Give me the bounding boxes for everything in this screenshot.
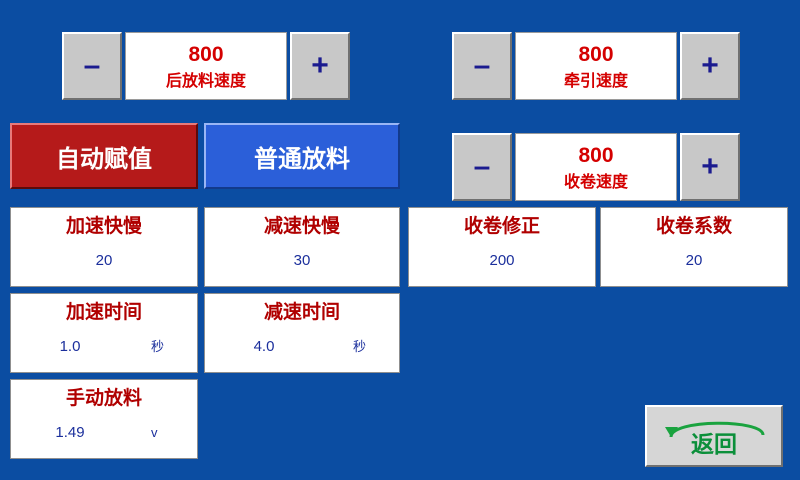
back-arrow-icon xyxy=(661,411,773,445)
hmi-screen: – 800 后放料速度 + – 800 牵引速度 + – 800 收卷速度 + … xyxy=(0,0,800,480)
cell-decel-time[interactable]: 减速时间 4.0 秒 xyxy=(204,293,400,373)
cell-winding-correct[interactable]: 收卷修正 200 xyxy=(408,207,596,287)
back-feed-speed-value: 800 xyxy=(188,44,223,65)
winding-speed-display[interactable]: 800 收卷速度 xyxy=(515,133,677,201)
cell-decel-rate[interactable]: 减速快慢 30 xyxy=(204,207,400,287)
decel-time-unit: 秒 xyxy=(353,340,366,353)
decel-time-title: 减速时间 xyxy=(205,303,399,322)
accel-rate-value: 20 xyxy=(11,253,197,268)
accel-time-value: 1.0 xyxy=(25,339,115,354)
decel-time-value: 4.0 xyxy=(219,339,309,354)
back-feed-speed-label: 后放料速度 xyxy=(166,74,246,90)
accel-time-unit: 秒 xyxy=(151,340,164,353)
accel-time-title: 加速时间 xyxy=(11,303,197,322)
winding-correct-title: 收卷修正 xyxy=(409,217,595,236)
spinner-traction-speed: – 800 牵引速度 + xyxy=(452,32,740,100)
manual-feed-value: 1.49 xyxy=(25,425,115,440)
manual-feed-title: 手动放料 xyxy=(11,389,197,408)
cell-manual-feed[interactable]: 手动放料 1.49 v xyxy=(10,379,198,459)
back-feed-speed-display[interactable]: 800 后放料速度 xyxy=(125,32,287,100)
spinner-back-feed-speed: – 800 后放料速度 + xyxy=(62,32,350,100)
winding-correct-value: 200 xyxy=(409,253,595,268)
winding-speed-label: 收卷速度 xyxy=(564,175,628,191)
auto-assign-button[interactable]: 自动赋值 xyxy=(10,123,198,189)
winding-speed-minus-button[interactable]: – xyxy=(452,133,512,201)
traction-speed-minus-button[interactable]: – xyxy=(452,32,512,100)
back-feed-speed-minus-button[interactable]: – xyxy=(62,32,122,100)
winding-speed-value: 800 xyxy=(578,145,613,166)
decel-rate-title: 减速快慢 xyxy=(205,217,399,236)
return-button[interactable]: 返回 xyxy=(645,405,783,467)
spinner-winding-speed: – 800 收卷速度 + xyxy=(452,133,740,201)
traction-speed-display[interactable]: 800 牵引速度 xyxy=(515,32,677,100)
back-feed-speed-plus-button[interactable]: + xyxy=(290,32,350,100)
cell-accel-rate[interactable]: 加速快慢 20 xyxy=(10,207,198,287)
winding-factor-value: 20 xyxy=(601,253,787,268)
manual-feed-unit: v xyxy=(151,426,158,439)
traction-speed-value: 800 xyxy=(578,44,613,65)
winding-speed-plus-button[interactable]: + xyxy=(680,133,740,201)
winding-factor-title: 收卷系数 xyxy=(601,217,787,236)
traction-speed-plus-button[interactable]: + xyxy=(680,32,740,100)
cell-winding-factor[interactable]: 收卷系数 20 xyxy=(600,207,788,287)
decel-rate-value: 30 xyxy=(205,253,399,268)
traction-speed-label: 牵引速度 xyxy=(564,74,628,90)
normal-feed-button[interactable]: 普通放料 xyxy=(204,123,400,189)
cell-accel-time[interactable]: 加速时间 1.0 秒 xyxy=(10,293,198,373)
accel-rate-title: 加速快慢 xyxy=(11,217,197,236)
